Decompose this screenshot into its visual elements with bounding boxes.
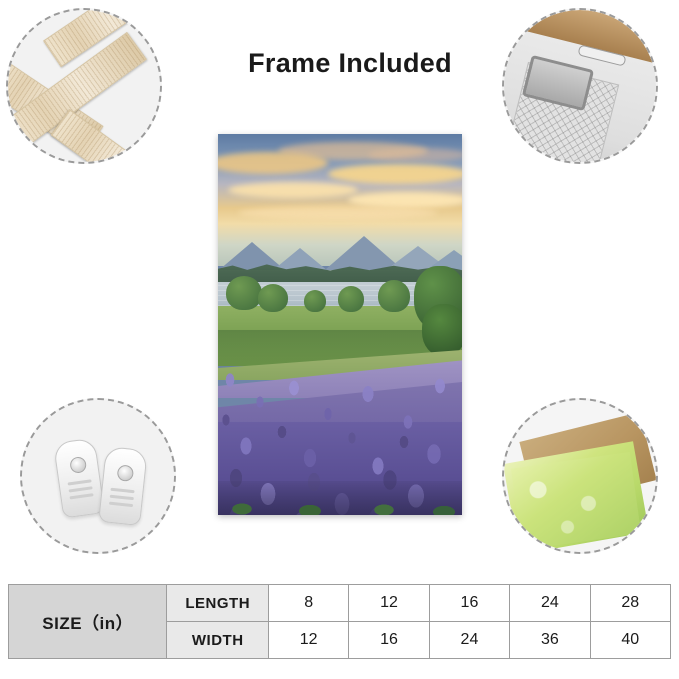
width-value: 16 <box>349 622 429 659</box>
hook-notches <box>68 479 92 485</box>
callout-frame-back-hardware <box>502 8 658 164</box>
cloud <box>218 152 328 174</box>
folded-canvas-illustration <box>504 400 656 552</box>
artwork-preview <box>218 134 462 515</box>
wall-hook-icon <box>98 446 148 526</box>
length-value: 8 <box>268 585 348 622</box>
screw-icon <box>69 456 87 474</box>
cloud <box>228 182 358 198</box>
table-row: SIZE（in） LENGTH 8 12 16 24 28 <box>9 585 671 622</box>
length-value: 24 <box>510 585 590 622</box>
tree <box>338 286 364 312</box>
hook-notches <box>110 488 134 493</box>
width-value: 40 <box>590 622 670 659</box>
callout-wall-hooks <box>20 398 176 554</box>
wall-hooks-illustration <box>22 400 174 552</box>
size-table-label: SIZE（in） <box>9 585 167 659</box>
canvas-front-face <box>511 452 641 550</box>
frame-back-illustration <box>504 10 656 162</box>
width-value: 12 <box>268 622 348 659</box>
size-table-row-header-width: WIDTH <box>167 622 269 659</box>
callout-wooden-frame-bars <box>6 8 162 164</box>
foreground-foliage <box>218 485 462 515</box>
width-value: 24 <box>429 622 509 659</box>
callout-folded-canvas <box>502 398 658 554</box>
screw-icon <box>117 464 135 482</box>
tree <box>304 290 326 312</box>
size-table-row-header-length: LENGTH <box>167 585 269 622</box>
length-value: 28 <box>590 585 670 622</box>
cloud <box>328 164 462 184</box>
width-value: 36 <box>510 622 590 659</box>
cloud <box>238 206 438 220</box>
length-value: 16 <box>429 585 509 622</box>
tree <box>422 304 462 356</box>
size-table: SIZE（in） LENGTH 8 12 16 24 28 WIDTH 12 1… <box>8 584 671 659</box>
tree <box>226 276 262 310</box>
page-title: Frame Included <box>210 48 490 79</box>
length-value: 12 <box>349 585 429 622</box>
tree <box>378 280 410 312</box>
tree <box>258 284 288 312</box>
wooden-frame-illustration <box>8 10 160 162</box>
product-listing-image: Frame Included <box>0 0 679 679</box>
